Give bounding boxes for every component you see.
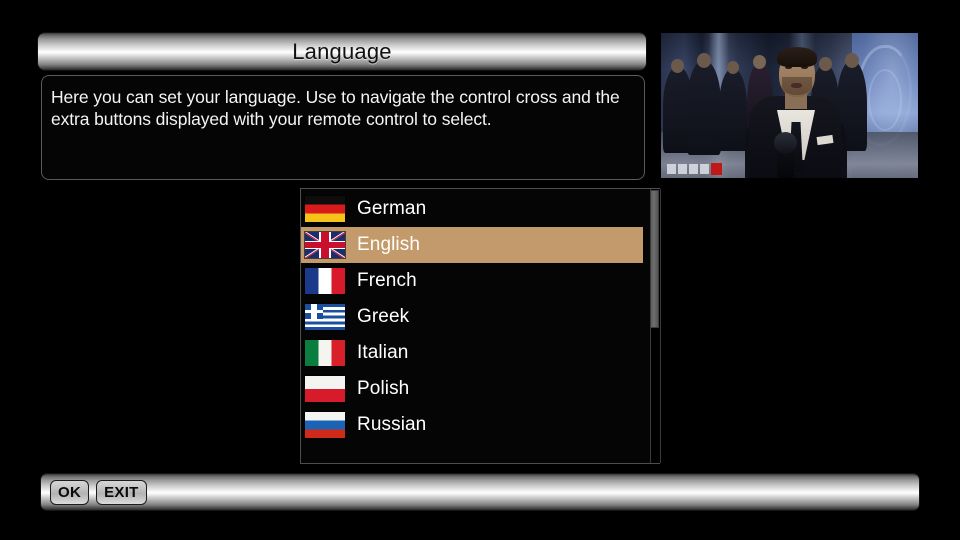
- video-crowd-head: [697, 53, 711, 68]
- flag-greece-icon: [305, 304, 345, 330]
- video-preview[interactable]: [661, 33, 918, 178]
- description-text: Here you can set your language. Use to n…: [51, 86, 632, 130]
- exit-button[interactable]: EXIT: [96, 480, 147, 505]
- flag-russia-icon: [305, 412, 345, 438]
- language-list: GermanEnglishFrenchGreekItalianPolishRus…: [301, 191, 643, 443]
- channel-logo-accent: [711, 163, 722, 175]
- language-label: Polish: [357, 378, 409, 400]
- video-panel-swirl-inner: [868, 69, 902, 131]
- video-crowd-head: [845, 53, 859, 68]
- tv-settings-screen: Language Here you can set your language.…: [0, 0, 960, 540]
- video-crowd-head: [727, 61, 739, 74]
- flag-italy-icon: [305, 340, 345, 366]
- language-list-panel[interactable]: GermanEnglishFrenchGreekItalianPolishRus…: [300, 188, 660, 464]
- bottom-action-bar: OK EXIT: [41, 474, 919, 510]
- flag-detail: [311, 304, 317, 319]
- language-row-italian[interactable]: Italian: [301, 335, 643, 371]
- title-bar: Language: [38, 33, 646, 70]
- page-title: Language: [292, 39, 391, 65]
- channel-logo: [667, 163, 722, 174]
- language-row-polish[interactable]: Polish: [301, 371, 643, 407]
- language-row-russian[interactable]: Russian: [301, 407, 643, 443]
- ok-button[interactable]: OK: [50, 480, 89, 505]
- exit-button-label: EXIT: [104, 484, 139, 501]
- video-crowd-person: [719, 69, 747, 151]
- language-row-french[interactable]: French: [301, 263, 643, 299]
- flag-stripe: [321, 232, 329, 258]
- microphone-icon: [774, 132, 797, 154]
- video-crowd-person: [687, 61, 721, 155]
- language-label: English: [357, 234, 420, 256]
- language-label: German: [357, 198, 426, 220]
- ok-button-label: OK: [58, 484, 81, 501]
- language-row-english[interactable]: English: [301, 227, 643, 263]
- flag-united-kingdom-icon: [305, 232, 345, 258]
- language-label: Greek: [357, 306, 409, 328]
- flag-poland-icon: [305, 376, 345, 402]
- video-reporter-mouth: [791, 83, 802, 88]
- flag-france-icon: [305, 268, 345, 294]
- flag-germany-icon: [305, 196, 345, 222]
- language-label: French: [357, 270, 417, 292]
- video-crowd-head: [819, 57, 832, 71]
- video-crowd-head: [753, 55, 766, 69]
- language-row-greek[interactable]: Greek: [301, 299, 643, 335]
- video-reporter-hair: [777, 47, 817, 67]
- list-scrollbar-thumb[interactable]: [650, 190, 659, 328]
- channel-logo-block: [689, 164, 698, 174]
- channel-logo-block: [667, 164, 676, 174]
- language-row-german[interactable]: German: [301, 191, 643, 227]
- language-label: Russian: [357, 414, 426, 436]
- language-label: Italian: [357, 342, 408, 364]
- video-crowd-head: [671, 59, 684, 73]
- description-box: Here you can set your language. Use to n…: [41, 75, 645, 180]
- channel-logo-block: [678, 164, 687, 174]
- channel-logo-block: [700, 164, 709, 174]
